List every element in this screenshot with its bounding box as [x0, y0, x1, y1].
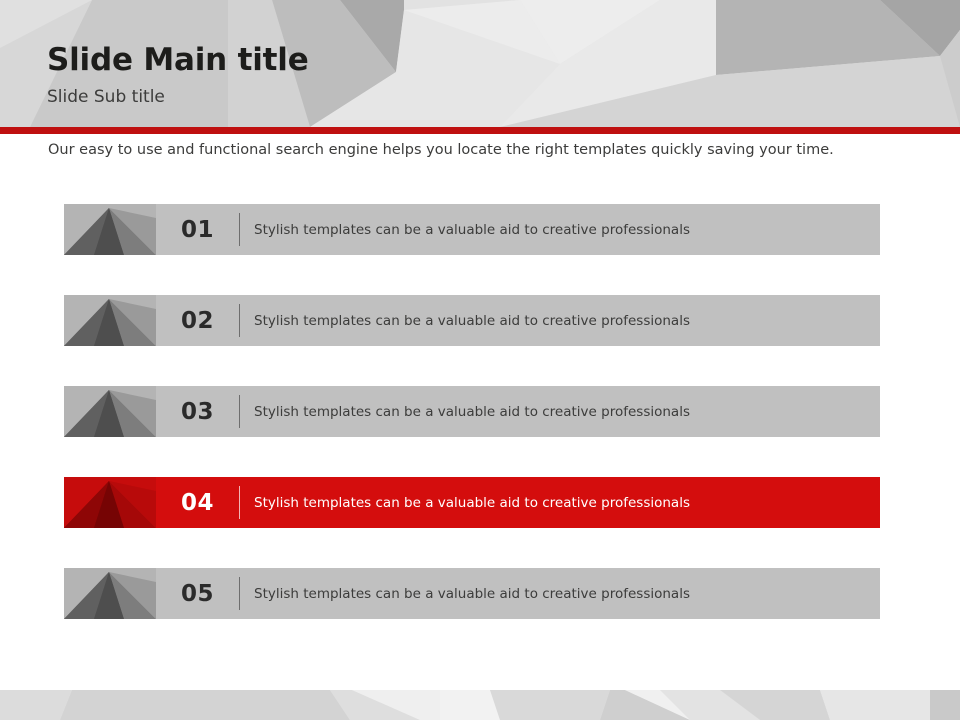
list-item-label: Stylish templates can be a valuable aid …	[240, 204, 880, 255]
list-item[interactable]: 01 Stylish templates can be a valuable a…	[64, 204, 880, 255]
list-item-label: Stylish templates can be a valuable aid …	[240, 386, 880, 437]
title-block: Slide Main title Slide Sub title	[47, 42, 309, 108]
list-item-number: 04	[156, 477, 239, 528]
page-subtitle: Slide Sub title	[47, 87, 309, 108]
mountain-triangle-icon	[64, 477, 156, 528]
slide-header: Slide Main title Slide Sub title	[0, 0, 960, 127]
intro-paragraph: Our easy to use and functional search en…	[48, 140, 908, 160]
list-item-number: 01	[156, 204, 239, 255]
list-item[interactable]: 05 Stylish templates can be a valuable a…	[64, 568, 880, 619]
mountain-triangle-icon	[64, 568, 156, 619]
list-item-label: Stylish templates can be a valuable aid …	[240, 568, 880, 619]
list-item-number: 05	[156, 568, 239, 619]
mountain-triangle-icon	[64, 295, 156, 346]
list-item-number: 03	[156, 386, 239, 437]
mountain-triangle-icon	[64, 386, 156, 437]
list-item-active[interactable]: 04 Stylish templates can be a valuable a…	[64, 477, 880, 528]
numbered-list: 01 Stylish templates can be a valuable a…	[64, 204, 880, 619]
accent-divider-bar	[0, 127, 960, 134]
mountain-triangle-icon	[64, 204, 156, 255]
footer-polygon-background	[0, 690, 960, 720]
list-item-label: Stylish templates can be a valuable aid …	[240, 477, 880, 528]
list-item-label: Stylish templates can be a valuable aid …	[240, 295, 880, 346]
list-item-number: 02	[156, 295, 239, 346]
page-title: Slide Main title	[47, 42, 309, 78]
list-item[interactable]: 03 Stylish templates can be a valuable a…	[64, 386, 880, 437]
slide-canvas: Slide Main title Slide Sub title Our eas…	[0, 0, 960, 720]
list-item[interactable]: 02 Stylish templates can be a valuable a…	[64, 295, 880, 346]
